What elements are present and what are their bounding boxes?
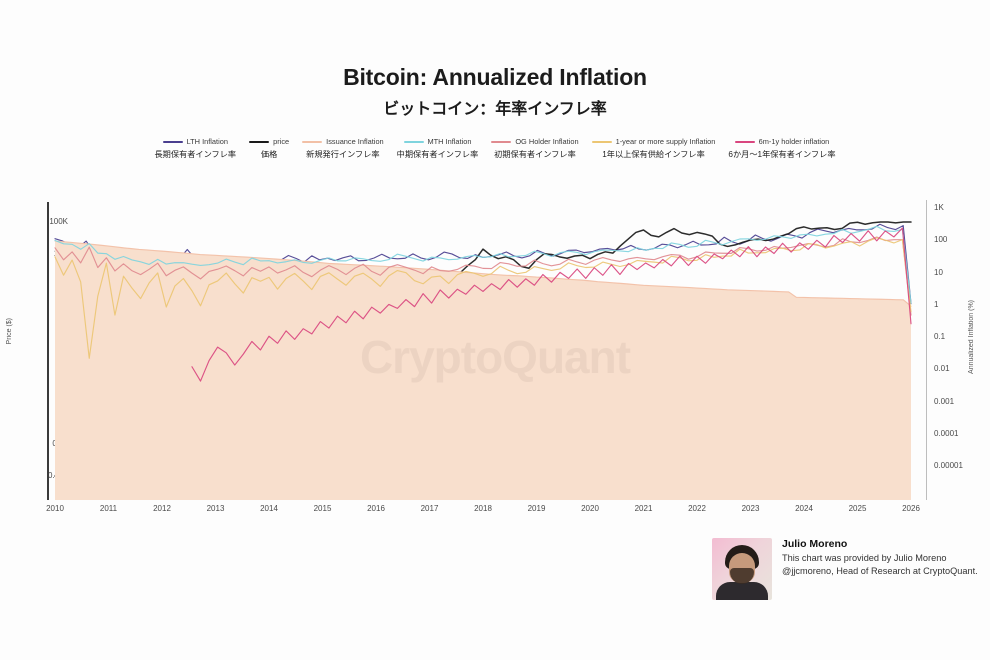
author-name: Julio Moreno: [782, 538, 980, 550]
legend-swatch-icon: [491, 141, 511, 143]
page-subtitle: ビットコイン：年率インフレ率: [0, 95, 990, 119]
x-axis-tick: 2021: [635, 504, 653, 513]
x-axis-tick: 2025: [849, 504, 867, 513]
series-area-issuance-inflation: [55, 241, 911, 500]
x-axis-tick: 2015: [314, 504, 332, 513]
y-axis-right-tick: 1: [934, 300, 938, 309]
legend-swatch-icon: [249, 141, 269, 143]
legend-label: OG Holder Inflation: [515, 137, 578, 146]
y-axis-right-tick: 100: [934, 235, 947, 244]
x-axis-tick: 2023: [742, 504, 760, 513]
y-axis-right-tick: 0.1: [934, 332, 945, 341]
legend-swatch-icon: [735, 141, 755, 143]
x-axis-tick: 2012: [153, 504, 171, 513]
x-axis-tick: 2014: [260, 504, 278, 513]
x-axis-tick: 2010: [46, 504, 64, 513]
y-axis-right-line: [926, 200, 927, 500]
x-axis-tick: 2026: [902, 504, 920, 513]
page-title: Bitcoin: Annualized Inflation: [0, 64, 990, 91]
legend-label-jp: 中期保有者インフレ率: [397, 148, 479, 160]
x-axis-tick: 2022: [688, 504, 706, 513]
y-axis-right-tick: 0.00001: [934, 461, 963, 470]
legend-label-jp: 6か月〜1年保有者インフレ率: [728, 148, 835, 160]
legend-label: 6m-1y holder inflation: [759, 137, 830, 146]
legend-swatch-icon: [302, 141, 322, 143]
avatar: [712, 538, 772, 600]
y-axis-right-tick: 0.01: [934, 364, 950, 373]
plot-area: [48, 202, 924, 500]
y-axis-right-title: Annualized Inflation (%): [968, 300, 975, 374]
y-axis-right-tick: 0.0001: [934, 429, 958, 438]
legend-item[interactable]: 6m-1y holder inflation6か月〜1年保有者インフレ率: [728, 137, 835, 160]
x-axis-tick: 2019: [528, 504, 546, 513]
legend-swatch-icon: [163, 141, 183, 143]
legend-label-jp: 新規発行インフレ率: [306, 148, 379, 160]
legend-label: Issuance Inflation: [326, 137, 384, 146]
chart-page: Bitcoin: Annualized Inflation ビットコイン：年率イ…: [0, 0, 990, 660]
chart-legend: LTH Inflation長期保有者インフレ率price価格Issuance I…: [0, 137, 990, 160]
chart-svg: [48, 202, 924, 500]
x-axis-tick: 2017: [421, 504, 439, 513]
legend-swatch-icon: [592, 141, 612, 143]
y-axis-right-tick: 1K: [934, 203, 944, 212]
author-description: This chart was provided by Julio Moreno …: [782, 552, 980, 577]
x-axis-tick: 2024: [795, 504, 813, 513]
legend-label-jp: 長期保有者インフレ率: [154, 148, 236, 160]
legend-item[interactable]: OG Holder Inflation初期保有者インフレ率: [491, 137, 578, 160]
legend-item[interactable]: MTH Inflation中期保有者インフレ率: [397, 137, 479, 160]
legend-item[interactable]: Issuance Inflation新規発行インフレ率: [302, 137, 384, 160]
legend-item[interactable]: LTH Inflation長期保有者インフレ率: [154, 137, 236, 160]
legend-label: price: [273, 137, 289, 146]
legend-label: LTH Inflation: [187, 137, 228, 146]
legend-label-jp: 初期保有者インフレ率: [494, 148, 576, 160]
x-axis-tick: 2016: [367, 504, 385, 513]
x-axis-tick: 2020: [581, 504, 599, 513]
y-axis-right-tick: 0.001: [934, 397, 954, 406]
legend-label: MTH Inflation: [428, 137, 472, 146]
x-axis-tick: 2013: [207, 504, 225, 513]
legend-label-jp: 価格: [261, 148, 277, 160]
legend-label-jp: 1年以上保有供給インフレ率: [602, 148, 705, 160]
x-axis-tick: 2011: [100, 504, 117, 513]
legend-item[interactable]: 1-year or more supply Inflation1年以上保有供給イ…: [592, 137, 716, 160]
legend-label: 1-year or more supply Inflation: [616, 137, 716, 146]
legend-swatch-icon: [404, 141, 424, 143]
attribution-card: Julio Moreno This chart was provided by …: [712, 538, 980, 606]
y-axis-left-title: Price ($): [6, 318, 13, 344]
legend-item[interactable]: price価格: [249, 137, 289, 160]
x-axis-tick: 2018: [474, 504, 492, 513]
y-axis-right-tick: 10: [934, 268, 943, 277]
